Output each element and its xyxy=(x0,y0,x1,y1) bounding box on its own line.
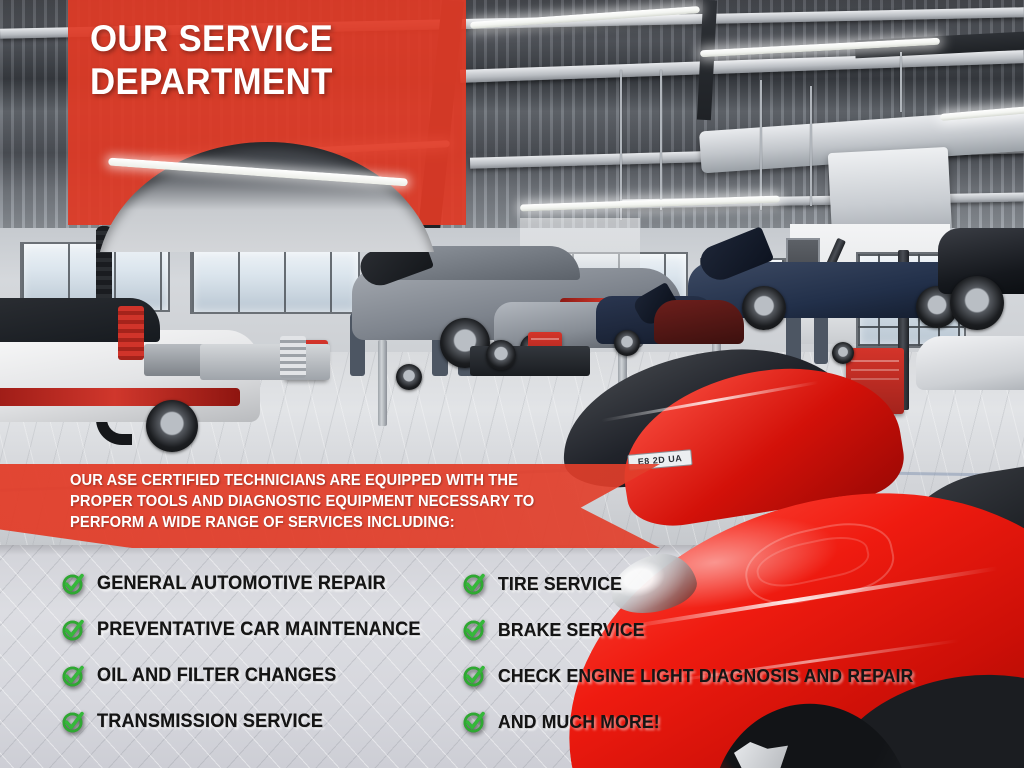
car-wheel xyxy=(614,330,640,356)
service-label: BRAKE SERVICE xyxy=(498,619,645,641)
services-checklist-panel: GENERAL AUTOMOTIVE REPAIR PREVENTATIVE C… xyxy=(0,545,1024,768)
page-title-line-2: DEPARTMENT xyxy=(90,61,447,104)
ceiling-rod xyxy=(760,80,762,210)
intro-banner-text: OUR ASE CERTIFIED TECHNICIANS ARE EQUIPP… xyxy=(70,470,583,533)
services-columns: GENERAL AUTOMOTIVE REPAIR PREVENTATIVE C… xyxy=(0,545,1024,768)
services-right-column: TIRE SERVICE BRAKE SERVICE xyxy=(455,545,1024,768)
service-department-poster: E8 2D UA OUR SERVICE DEPARTMENT GENERAL … xyxy=(0,0,1024,768)
loose-tire xyxy=(486,340,516,370)
intro-line-1: OUR ASE CERTIFIED TECHNICIANS ARE EQUIPP… xyxy=(70,470,583,491)
service-label: TRANSMISSION SERVICE xyxy=(97,711,323,733)
service-list-item[interactable]: TIRE SERVICE xyxy=(463,561,1024,607)
service-list-item[interactable]: PREVENTATIVE CAR MAINTENANCE xyxy=(62,607,455,653)
page-title-line-1: OUR SERVICE xyxy=(90,18,333,59)
green-check-icon xyxy=(62,573,84,595)
garage-window xyxy=(190,248,360,314)
service-label: CHECK ENGINE LIGHT DIAGNOSIS AND REPAIR xyxy=(498,665,914,687)
service-label: GENERAL AUTOMOTIVE REPAIR xyxy=(97,573,386,595)
car-wheel xyxy=(146,400,198,452)
ceiling-rod xyxy=(900,52,902,112)
service-list-item[interactable]: TRANSMISSION SERVICE xyxy=(62,699,455,745)
hose-reel xyxy=(118,306,144,360)
services-left-column: GENERAL AUTOMOTIVE REPAIR PREVENTATIVE C… xyxy=(0,545,455,768)
ceiling-rod xyxy=(660,70,662,210)
workbench xyxy=(200,344,330,380)
green-check-icon xyxy=(463,665,485,687)
green-check-icon xyxy=(62,711,84,733)
service-list-item[interactable]: BRAKE SERVICE xyxy=(463,607,1024,653)
car-wheel xyxy=(950,276,1004,330)
service-list-item[interactable]: AND MUCH MORE! xyxy=(463,699,1024,745)
green-check-icon xyxy=(62,619,84,641)
car-lift-post xyxy=(378,340,387,426)
green-check-icon xyxy=(62,665,84,687)
car-white-right xyxy=(916,336,1024,390)
service-list-item[interactable]: GENERAL AUTOMOTIVE REPAIR xyxy=(62,561,455,607)
loose-tire xyxy=(396,364,422,390)
green-check-icon xyxy=(463,573,485,595)
car-wheel xyxy=(742,286,786,330)
ceiling-rod xyxy=(620,70,622,220)
ceiling-light-strip xyxy=(520,195,780,211)
loose-tire xyxy=(832,342,854,364)
car-taillight-bar xyxy=(0,388,240,406)
green-check-icon xyxy=(463,619,485,641)
service-label: PREVENTATIVE CAR MAINTENANCE xyxy=(97,619,421,641)
service-label: TIRE SERVICE xyxy=(498,573,622,595)
service-list-item[interactable]: OIL AND FILTER CHANGES xyxy=(62,653,455,699)
green-check-icon xyxy=(463,711,485,733)
ceiling-rod xyxy=(810,86,812,206)
service-label: AND MUCH MORE! xyxy=(498,711,660,733)
service-list-item[interactable]: CHECK ENGINE LIGHT DIAGNOSIS AND REPAIR xyxy=(463,653,1024,699)
spring-compressor xyxy=(280,336,306,378)
car-dark-red xyxy=(654,300,744,344)
hvac-duct-box xyxy=(828,147,952,232)
page-title: OUR SERVICE DEPARTMENT xyxy=(90,18,447,104)
intro-line-2: PROPER TOOLS AND DIAGNOSTIC EQUIPMENT NE… xyxy=(70,491,583,512)
intro-line-3: PERFORM A WIDE RANGE OF SERVICES INCLUDI… xyxy=(70,512,583,533)
service-label: OIL AND FILTER CHANGES xyxy=(97,665,337,687)
